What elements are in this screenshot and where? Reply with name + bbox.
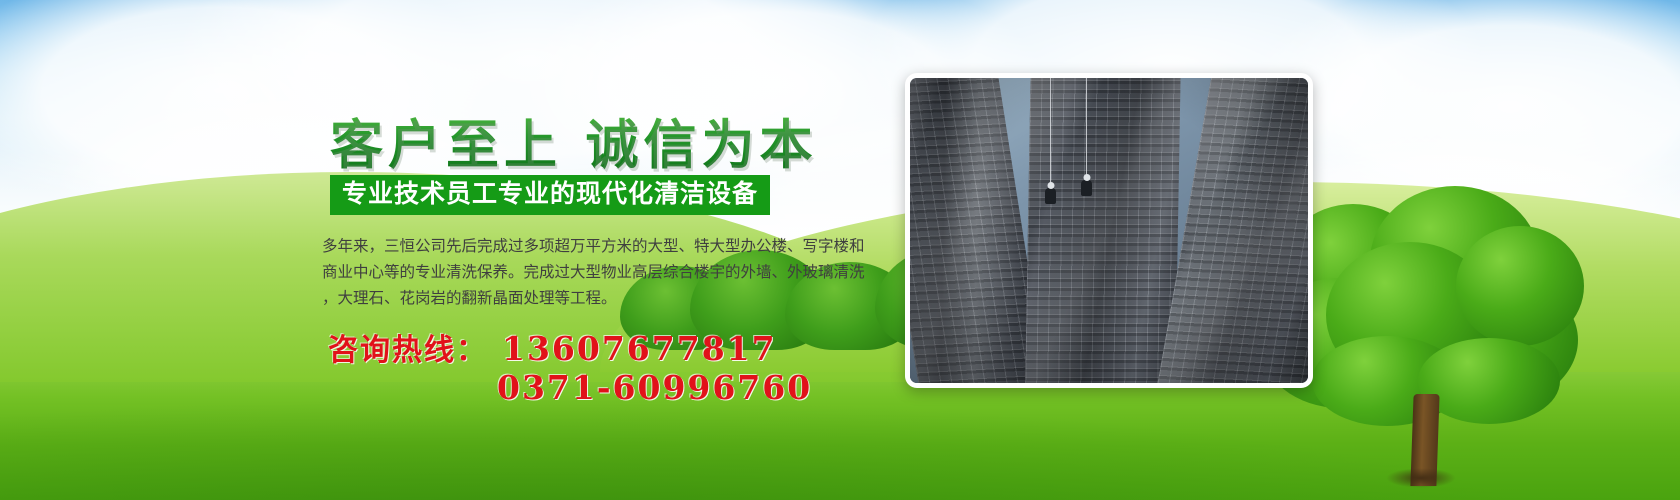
subtitle-bar-text: 专业技术员工专业的现代化清洁设备 [342, 179, 758, 208]
hotline-label: 咨询热线： [328, 325, 488, 369]
building-photo [910, 78, 1308, 383]
hotline-phone-secondary[interactable]: 0371-60996760 [497, 368, 812, 407]
subtitle-bar: 专业技术员工专业的现代化清洁设备 [330, 175, 770, 215]
hotline-row: 咨询热线： 13607677817 [328, 325, 777, 369]
headline: 客户至上 诚信为本 [330, 103, 817, 179]
hotline-phone-primary[interactable]: 13607677817 [502, 329, 777, 368]
description-line: 商业中心等的专业清洗保养。完成过大型物业高层综合楼宇的外墙、外玻璃清洗 [322, 259, 892, 285]
promo-banner: 客户至上 诚信为本 客户至上 诚信为本 专业技术员工专业的现代化清洁设备 多年来… [0, 0, 1680, 500]
description-line: ，大理石、花岗岩的翻新晶面处理等工程。 [322, 285, 892, 311]
description-paragraph: 多年来，三恒公司先后完成过多项超万平方米的大型、特大型办公楼、写字楼和 商业中心… [322, 233, 892, 311]
photo-vignette [910, 78, 1308, 383]
banner-content: 客户至上 诚信为本 客户至上 诚信为本 专业技术员工专业的现代化清洁设备 多年来… [0, 0, 905, 500]
building-photo-card[interactable] [905, 73, 1313, 388]
description-line: 多年来，三恒公司先后完成过多项超万平方米的大型、特大型办公楼、写字楼和 [322, 233, 892, 259]
